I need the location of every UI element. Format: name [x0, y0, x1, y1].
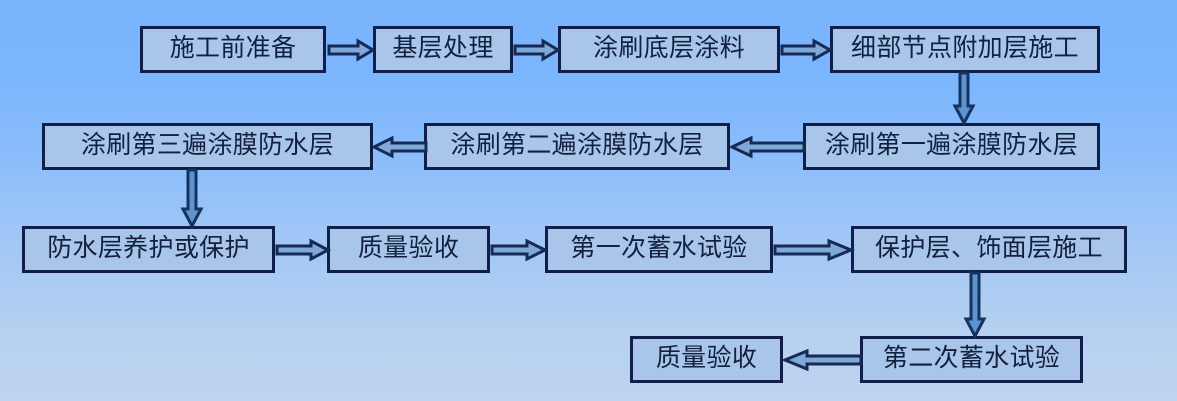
- flow-node-label: 涂刷第三遍涂膜防水层: [81, 133, 334, 158]
- flow-arrow-left-icon: [371, 136, 427, 158]
- flow-node-n10[interactable]: 第一次蓄水试验: [545, 226, 773, 273]
- flow-node-n4[interactable]: 细部节点附加层施工: [830, 26, 1100, 73]
- flow-arrow-right-icon: [491, 239, 547, 261]
- flow-arrow-right-icon: [514, 39, 560, 61]
- flow-node-n5[interactable]: 涂刷第一遍涂膜防水层: [803, 123, 1100, 170]
- flow-arrow-down-icon: [180, 169, 204, 228]
- flow-node-label: 基层处理: [392, 36, 493, 61]
- flow-node-label: 质量验收: [656, 346, 757, 371]
- flow-node-n2[interactable]: 基层处理: [373, 26, 513, 73]
- flow-arrow-left-icon: [783, 349, 862, 371]
- flow-node-label: 保护层、饰面层施工: [875, 236, 1103, 261]
- flow-arrow-down-icon: [952, 72, 976, 125]
- flow-node-label: 第一次蓄水试验: [570, 236, 747, 261]
- flow-arrow-right-icon: [774, 239, 853, 261]
- flow-node-label: 质量验收: [358, 236, 459, 261]
- flow-node-n6[interactable]: 涂刷第二遍涂膜防水层: [424, 123, 730, 170]
- flowchart-canvas: 施工前准备 基层处理 涂刷底层涂料 细部节点附加层施工 涂刷第一遍涂膜防水层 涂…: [0, 0, 1177, 401]
- flow-node-n11[interactable]: 保护层、饰面层施工: [851, 226, 1127, 273]
- flow-arrow-right-icon: [781, 39, 832, 61]
- flow-node-n12[interactable]: 第二次蓄水试验: [860, 336, 1083, 383]
- flow-node-label: 施工前准备: [170, 36, 297, 61]
- flow-node-n8[interactable]: 防水层养护或保护: [22, 226, 275, 273]
- flow-node-label: 第二次蓄水试验: [883, 346, 1060, 371]
- flow-arrow-down-icon: [963, 272, 987, 338]
- flow-node-label: 细部节点附加层施工: [851, 36, 1079, 61]
- flow-node-label: 涂刷第一遍涂膜防水层: [825, 133, 1078, 158]
- flow-node-n13[interactable]: 质量验收: [630, 336, 783, 383]
- flow-node-label: 涂刷第二遍涂膜防水层: [450, 133, 703, 158]
- flow-node-label: 防水层养护或保护: [47, 236, 250, 261]
- flow-node-label: 涂刷底层涂料: [593, 36, 745, 61]
- flow-node-n1[interactable]: 施工前准备: [140, 26, 326, 73]
- flow-node-n7[interactable]: 涂刷第三遍涂膜防水层: [42, 123, 373, 170]
- flow-arrow-right-icon: [276, 239, 330, 261]
- flow-arrow-right-icon: [328, 39, 375, 61]
- flow-arrow-left-icon: [729, 136, 805, 158]
- flow-node-n3[interactable]: 涂刷底层涂料: [558, 26, 780, 73]
- flow-node-n9[interactable]: 质量验收: [327, 226, 490, 273]
